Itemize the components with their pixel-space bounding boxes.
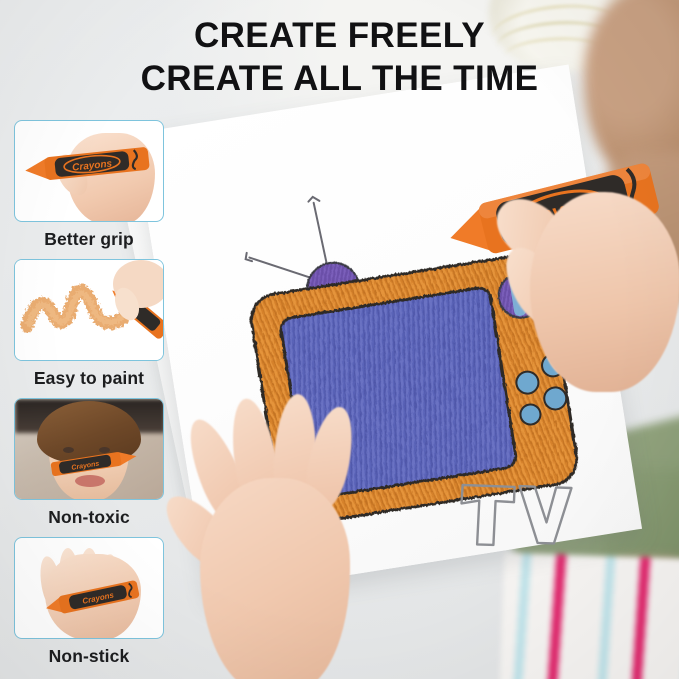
eye [63,447,74,453]
feature-image-frame: Crayons [14,537,164,639]
feature-image-easy-to-paint [15,260,163,360]
feature-label: Non-toxic [14,507,164,528]
palm [200,478,350,679]
feature-image-non-stick: Crayons [15,538,163,638]
feature-label: Easy to paint [14,368,164,389]
feature-card-non-stick[interactable]: Crayons Non-stick [14,537,164,667]
child-left-hand [172,392,382,679]
feature-card-easy-to-paint[interactable]: Easy to paint [14,259,164,389]
feature-image-better-grip: Crayons [15,121,163,221]
palm [530,192,679,392]
feature-card-better-grip[interactable]: Crayons Better grip [14,120,164,250]
mouth [75,475,105,487]
feature-image-frame: Crayons [14,120,164,222]
feature-image-frame: Crayons [14,398,164,500]
feature-label: Non-stick [14,646,164,667]
scribble [15,260,164,361]
feature-label: Better grip [14,229,164,250]
infographic-stage: Crayons CREATE FREELY CREATE ALL THE TIM… [0,0,679,679]
feature-image-non-toxic: Crayons [15,399,163,499]
feature-card-non-toxic[interactable]: Crayons Non-toxic [14,398,164,528]
feature-image-frame [14,259,164,361]
feature-card-list: Crayons Better grip [0,0,176,679]
child-right-hand [468,148,679,428]
